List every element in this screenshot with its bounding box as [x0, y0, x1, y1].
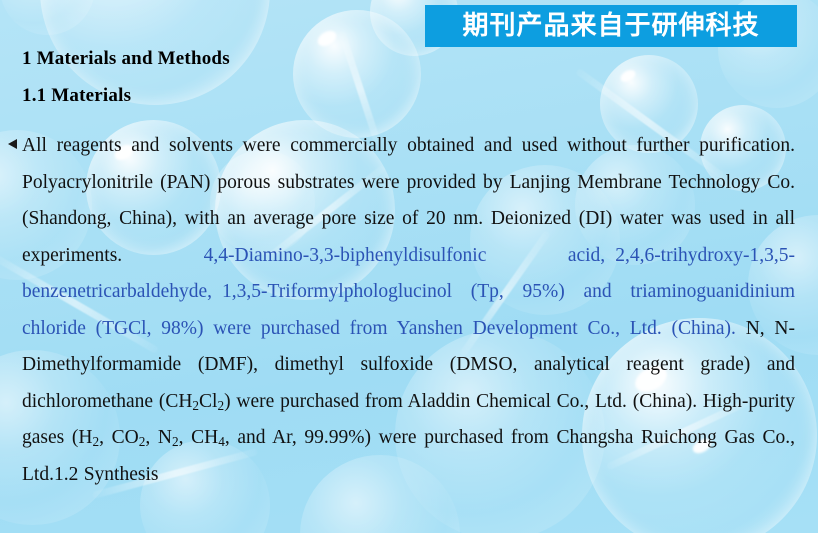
journal-banner: 期刊产品来自于研伸科技 [425, 5, 797, 47]
paragraph-segment-blue-1: 4,4-Diamino-3,3-biphenyldisulfonic acid, [204, 245, 606, 266]
paragraph-segment-plain-5: , CO [99, 427, 139, 448]
paragraph-segment-plain-6: , N [145, 427, 172, 448]
subsection-heading: 1.1 Materials [22, 85, 131, 107]
body-paragraph: All reagents and solvents were commercia… [22, 128, 795, 493]
paragraph-segment-plain-7: , CH [179, 427, 219, 448]
bubble-decoration [0, 0, 95, 35]
banner-label: 期刊产品来自于研伸科技 [462, 13, 759, 39]
slide-canvas: 期刊产品来自于研伸科技 1 Materials and Methods 1.1 … [0, 0, 818, 533]
paragraph-segment-plain-3: Cl [199, 391, 217, 412]
section-heading: 1 Materials and Methods [22, 48, 230, 70]
triangle-left-icon [8, 139, 17, 149]
subscript-4a: 4 [218, 434, 225, 449]
body-block: All reagents and solvents were commercia… [22, 128, 795, 493]
bubble-decoration [293, 10, 421, 138]
subscript-2e: 2 [172, 434, 179, 449]
